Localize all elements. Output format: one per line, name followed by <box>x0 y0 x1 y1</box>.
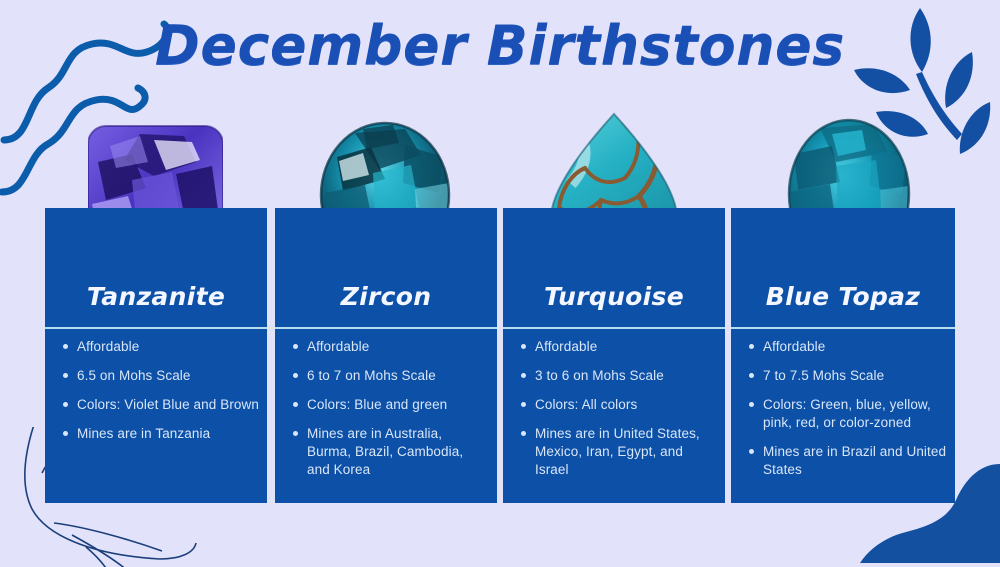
list-item: 6.5 on Mohs Scale <box>77 367 259 385</box>
card-fact-list: Affordable 6.5 on Mohs Scale Colors: Vio… <box>55 338 259 454</box>
list-item: Colors: Green, blue, yellow, pink, red, … <box>763 396 947 432</box>
list-item: Colors: All colors <box>535 396 717 414</box>
list-item: Mines are in Tanzania <box>77 425 259 443</box>
card-divider <box>503 327 725 329</box>
card-turquoise[interactable]: Turquoise Affordable 3 to 6 on Mohs Scal… <box>503 208 725 503</box>
card-title: Tanzanite <box>45 282 267 311</box>
page-title: December Birthstones <box>0 14 1000 77</box>
list-item: Mines are in Australia, Burma, Brazil, C… <box>307 425 489 479</box>
card-divider <box>731 327 955 329</box>
card-fact-list: Affordable 7 to 7.5 Mohs Scale Colors: G… <box>741 338 947 490</box>
list-item: Colors: Violet Blue and Brown <box>77 396 259 414</box>
list-item: Affordable <box>77 338 259 356</box>
list-item: Affordable <box>763 338 947 356</box>
card-fact-list: Affordable 6 to 7 on Mohs Scale Colors: … <box>285 338 489 490</box>
infographic-canvas: December Birthstones <box>0 0 1000 563</box>
card-title: Turquoise <box>503 282 725 311</box>
list-item: Mines are in Brazil and United States <box>763 443 947 479</box>
card-title: Blue Topaz <box>731 282 955 311</box>
list-item: Affordable <box>535 338 717 356</box>
card-tanzanite[interactable]: Tanzanite Affordable 6.5 on Mohs Scale C… <box>45 208 267 503</box>
card-divider <box>45 327 267 329</box>
list-item: Affordable <box>307 338 489 356</box>
card-blue-topaz[interactable]: Blue Topaz Affordable 7 to 7.5 Mohs Scal… <box>731 208 955 503</box>
list-item: Mines are in United States, Mexico, Iran… <box>535 425 717 479</box>
card-fact-list: Affordable 3 to 6 on Mohs Scale Colors: … <box>513 338 717 490</box>
list-item: 7 to 7.5 Mohs Scale <box>763 367 947 385</box>
card-zircon[interactable]: Zircon Affordable 6 to 7 on Mohs Scale C… <box>275 208 497 503</box>
list-item: 6 to 7 on Mohs Scale <box>307 367 489 385</box>
card-title: Zircon <box>275 282 497 311</box>
list-item: Colors: Blue and green <box>307 396 489 414</box>
card-divider <box>275 327 497 329</box>
list-item: 3 to 6 on Mohs Scale <box>535 367 717 385</box>
